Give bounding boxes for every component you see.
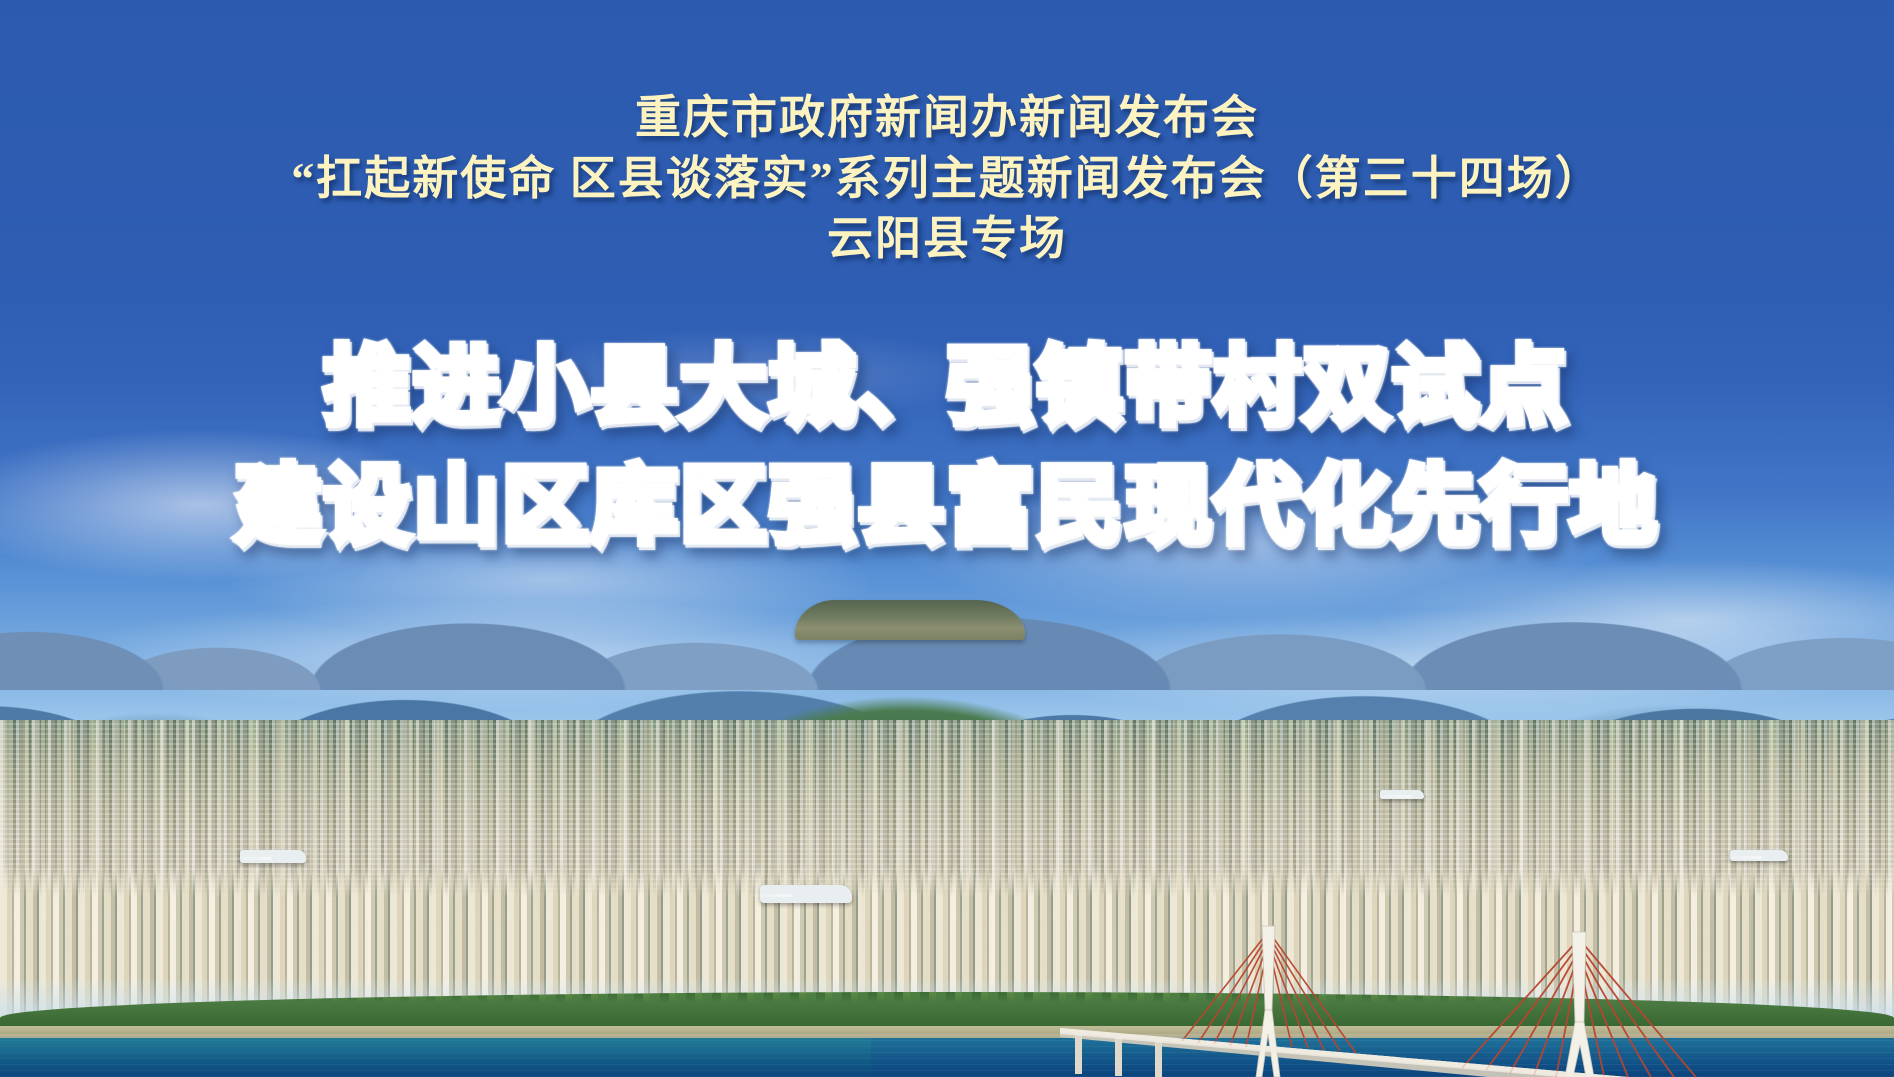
title-outline: 建设山区库区强县富民现代化先行地 [0, 449, 1894, 564]
main-title: 推进小县大城、强镇带村双试点推进小县大城、强镇带村双试点 建设山区库区强县富民现… [0, 330, 1894, 564]
cargo-boat [240, 850, 306, 863]
cityscape-photo [0, 540, 1894, 1077]
header-line-1: 重庆市政府新闻办新闻发布会 [0, 88, 1894, 149]
small-boat [1380, 790, 1424, 799]
boat-wake [746, 894, 792, 897]
passenger-ferry [760, 885, 852, 903]
title-line-1: 推进小县大城、强镇带村双试点推进小县大城、强镇带村双试点 [0, 330, 1894, 445]
cable-stayed-bridge [0, 540, 1894, 1077]
title-outline: 推进小县大城、强镇带村双试点 [0, 330, 1894, 445]
river-barge [1730, 850, 1788, 861]
header-line-3: 云阳县专场 [0, 209, 1894, 270]
boat-wake [1716, 856, 1762, 859]
boat-wake [226, 857, 272, 860]
boat-wake [1366, 795, 1412, 798]
header-line-2: “扛起新使命 区县谈落实”系列主题新闻发布会（第三十四场） [0, 149, 1894, 210]
conference-header: 重庆市政府新闻办新闻发布会 “扛起新使命 区县谈落实”系列主题新闻发布会（第三十… [0, 88, 1894, 270]
poster-root: 重庆市政府新闻办新闻发布会 “扛起新使命 区县谈落实”系列主题新闻发布会（第三十… [0, 0, 1894, 1077]
title-line-2: 建设山区库区强县富民现代化先行地建设山区库区强县富民现代化先行地 [0, 449, 1894, 564]
